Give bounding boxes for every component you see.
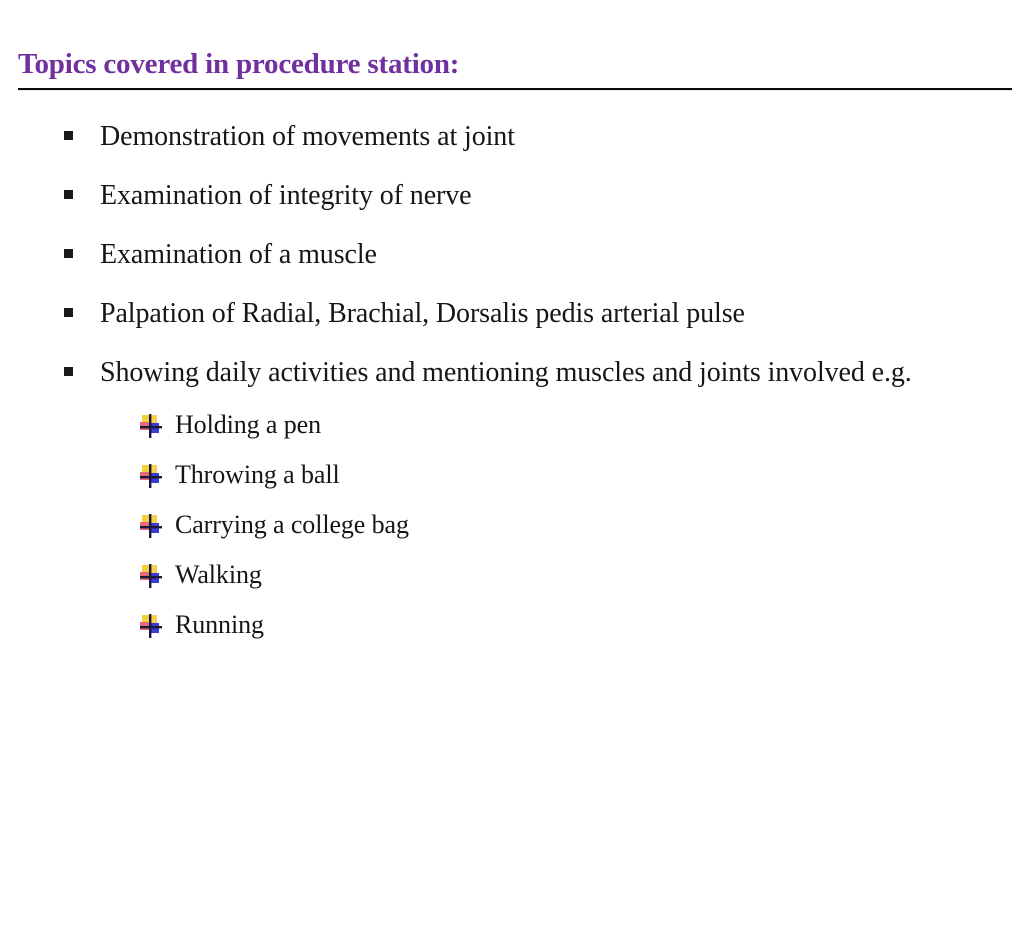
sub-list-item-label: Walking (175, 560, 262, 589)
sub-list-item: Carrying a college bag (140, 510, 1024, 540)
list-item: Palpation of Radial, Brachial, Dorsalis … (0, 295, 1024, 333)
bullet-list: Demonstration of movements at joint Exam… (0, 118, 1024, 661)
list-item: Examination of a muscle (0, 236, 1024, 274)
list-item-label: Examination of a muscle (100, 236, 940, 274)
sub-list-item: Throwing a ball (140, 460, 1024, 490)
list-item: Showing daily activities and mentioning … (0, 354, 1024, 640)
sub-list-item: Holding a pen (140, 410, 1024, 440)
four-color-cross-bullet-icon (140, 564, 162, 588)
sub-bullet-list: Holding a pen Throwing a ball (100, 410, 1024, 640)
list-item-label: Demonstration of movements at joint (100, 118, 940, 156)
list-item-label: Examination of integrity of nerve (100, 177, 940, 215)
square-bullet-icon (64, 308, 73, 317)
square-bullet-icon (64, 190, 73, 199)
square-bullet-icon (64, 131, 73, 140)
square-bullet-icon (64, 367, 73, 376)
list-item: Examination of integrity of nerve (0, 177, 1024, 215)
presentation-slide: Topics covered in procedure station: Dem… (0, 0, 1024, 932)
sub-list-item-label: Carrying a college bag (175, 510, 409, 539)
square-bullet-icon (64, 249, 73, 258)
sub-list-item: Running (140, 610, 1024, 640)
title-divider (18, 88, 1012, 91)
list-item: Demonstration of movements at joint (0, 118, 1024, 156)
slide-title-block: Topics covered in procedure station: (18, 46, 1012, 91)
sub-list-item-label: Running (175, 610, 264, 639)
four-color-cross-bullet-icon (140, 464, 162, 488)
sub-list-item: Walking (140, 560, 1024, 590)
page-title: Topics covered in procedure station: (18, 46, 1012, 82)
four-color-cross-bullet-icon (140, 414, 162, 438)
four-color-cross-bullet-icon (140, 614, 162, 638)
four-color-cross-bullet-icon (140, 514, 162, 538)
list-item-label: Showing daily activities and mentioning … (100, 354, 940, 392)
sub-list-item-label: Throwing a ball (175, 460, 340, 489)
sub-list-item-label: Holding a pen (175, 410, 321, 439)
list-item-label: Palpation of Radial, Brachial, Dorsalis … (100, 295, 940, 333)
